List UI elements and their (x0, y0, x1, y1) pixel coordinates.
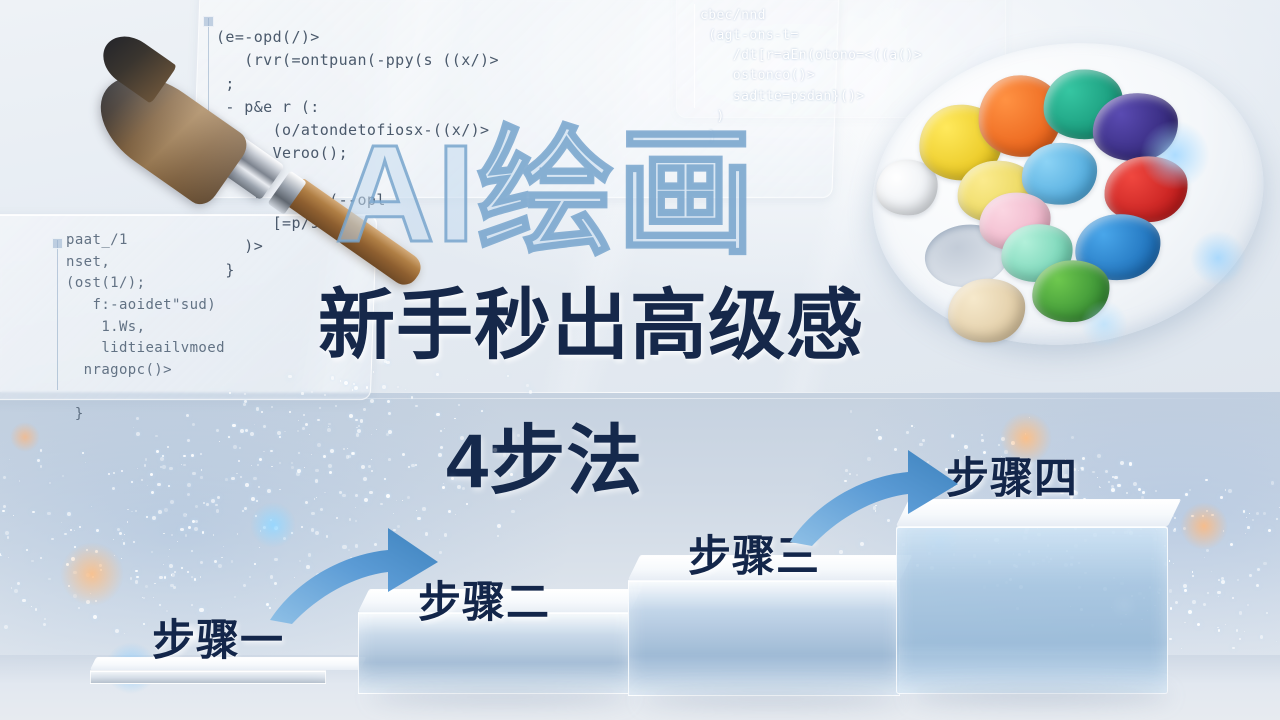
particle (1029, 417, 1030, 418)
particle (249, 576, 251, 578)
particle (914, 427, 915, 428)
particle (305, 423, 308, 426)
particle (1221, 580, 1225, 584)
particle (451, 477, 454, 480)
particle (1236, 629, 1239, 632)
particle (233, 445, 237, 449)
particle (1247, 604, 1249, 606)
particle (187, 493, 190, 496)
particle (191, 454, 194, 457)
particle (358, 425, 361, 428)
particle (1092, 471, 1095, 474)
particle (203, 502, 205, 504)
particle (1239, 638, 1241, 640)
particle (1189, 489, 1191, 491)
particle (2, 510, 5, 513)
particle (74, 530, 76, 532)
particle (40, 557, 42, 559)
particle (320, 508, 324, 512)
particle (115, 629, 119, 633)
particle (99, 564, 102, 567)
particle (242, 510, 244, 512)
particle (256, 500, 258, 502)
particle (202, 531, 205, 534)
particle (73, 594, 77, 598)
particle (113, 472, 115, 474)
particle (270, 450, 273, 453)
glow-bokeh (10, 422, 40, 452)
particle (152, 516, 156, 520)
particle (364, 498, 368, 502)
particle (366, 386, 369, 389)
particle (1276, 518, 1278, 520)
particle (1001, 437, 1005, 441)
particle (100, 569, 102, 571)
particle (112, 487, 115, 490)
particle (1271, 481, 1275, 485)
particle (4, 625, 8, 629)
particle (131, 481, 133, 483)
particle (231, 560, 233, 562)
poster-canvas: (e=-opd(/)> (rvr(=ontpuan(-ppy(s ((x/)> … (0, 0, 1280, 720)
particle (1133, 482, 1137, 486)
particle (229, 392, 231, 394)
particle (271, 466, 273, 468)
particle (1243, 510, 1246, 513)
particle (355, 419, 358, 422)
particle (160, 457, 164, 461)
particle (356, 427, 358, 429)
particle (133, 427, 134, 428)
particle (346, 455, 350, 459)
particle (330, 449, 334, 453)
particle (520, 499, 521, 500)
particle (460, 436, 464, 440)
particle (200, 476, 203, 479)
particle (155, 435, 158, 438)
particle (1205, 479, 1208, 482)
particle (133, 541, 135, 543)
particle (244, 507, 247, 510)
particle (231, 477, 235, 481)
particle (216, 429, 219, 432)
particle (443, 483, 444, 484)
particle (221, 557, 223, 559)
particle (86, 600, 90, 604)
particle (225, 478, 228, 481)
particle (119, 532, 122, 535)
particle (154, 583, 155, 584)
particle (258, 486, 260, 488)
particle (315, 469, 319, 473)
particle (386, 494, 390, 498)
particle (74, 546, 76, 548)
particle (442, 486, 445, 489)
particle (37, 459, 40, 462)
particle (183, 464, 186, 467)
particle (388, 458, 391, 461)
particle (1120, 461, 1124, 465)
particle (1249, 574, 1252, 577)
particle (349, 414, 353, 418)
particle (363, 477, 367, 481)
particle (436, 413, 439, 416)
particle (1223, 530, 1224, 531)
particle (1252, 519, 1255, 522)
podium-front (628, 580, 900, 696)
page-title: AI绘画 (335, 112, 875, 277)
particle (983, 451, 986, 454)
particle (1082, 457, 1086, 461)
particle (327, 428, 331, 432)
particle (217, 496, 220, 499)
particle (297, 469, 301, 473)
particle (124, 534, 126, 536)
particle (70, 529, 71, 530)
arrow-step1-to-step2 (262, 516, 452, 626)
particle (135, 580, 138, 583)
particle (1220, 496, 1223, 499)
particle (186, 514, 188, 516)
particle (159, 604, 162, 607)
particle (1230, 543, 1233, 546)
particle (1141, 496, 1144, 499)
particle (48, 578, 51, 581)
particle (8, 557, 9, 558)
particle (361, 465, 365, 469)
particle (1004, 450, 1008, 454)
particle (40, 449, 43, 452)
particle (454, 418, 456, 420)
particle (279, 489, 281, 491)
particle (216, 509, 220, 513)
particle (19, 480, 20, 481)
podium-front (90, 670, 326, 684)
particle (169, 549, 170, 550)
particle (122, 539, 123, 540)
particle (200, 453, 202, 455)
particle (159, 576, 162, 579)
particle (95, 600, 97, 602)
particle (1155, 490, 1157, 492)
particle (507, 375, 509, 377)
particle (298, 452, 300, 454)
page-subtitle: 新手秒出高级感 (318, 288, 864, 365)
particle (259, 458, 262, 461)
particle (402, 453, 405, 456)
particle (61, 522, 62, 523)
particle (5, 531, 9, 535)
particle (183, 455, 185, 457)
particle (415, 405, 417, 407)
particle (64, 533, 67, 536)
particle (302, 427, 305, 430)
particle (440, 430, 442, 432)
particle (304, 467, 305, 468)
particle (153, 597, 154, 598)
particle (166, 610, 168, 612)
particle (309, 434, 310, 435)
particle (146, 516, 147, 517)
particle (170, 500, 174, 504)
particle (1239, 611, 1243, 615)
particle (35, 608, 38, 611)
particle (150, 473, 154, 477)
particle (136, 417, 139, 420)
particle (91, 506, 92, 507)
particle (211, 499, 215, 503)
particle (1117, 484, 1121, 488)
particle (517, 434, 520, 437)
particle (191, 576, 193, 578)
particle (1138, 488, 1141, 491)
particle (503, 453, 507, 457)
particle (135, 510, 136, 511)
particle (11, 587, 13, 589)
particle (316, 497, 317, 498)
particle (14, 589, 18, 593)
particle (371, 470, 373, 472)
particle (191, 604, 193, 606)
particle (511, 510, 515, 514)
particle (239, 447, 241, 449)
particle (135, 570, 137, 572)
particle (497, 535, 499, 537)
particle (297, 430, 299, 432)
particle (267, 489, 271, 493)
particle (180, 528, 184, 532)
particle (1247, 526, 1250, 529)
particle (31, 560, 34, 563)
particle (66, 563, 70, 567)
particle (127, 521, 128, 522)
particle (136, 576, 138, 578)
particle (493, 448, 496, 451)
particle (243, 584, 246, 587)
code-gutter-right (694, 4, 695, 108)
particle (143, 623, 145, 625)
particle (79, 526, 81, 528)
particle (141, 479, 143, 481)
particle (49, 482, 52, 485)
particle (113, 539, 114, 540)
particle (237, 533, 238, 534)
particle (13, 515, 15, 517)
particle (108, 473, 111, 476)
particle (388, 430, 392, 434)
particle (1217, 627, 1219, 629)
particle (144, 464, 146, 466)
particle (240, 476, 242, 478)
particle (86, 549, 88, 551)
particle (1011, 441, 1015, 445)
particle (1244, 631, 1246, 633)
particle (244, 393, 246, 395)
particle (31, 606, 33, 608)
particle (171, 573, 175, 577)
particle (1185, 493, 1188, 496)
particle (173, 586, 176, 589)
particle (1256, 512, 1259, 515)
particle (245, 483, 249, 487)
particle (253, 477, 257, 481)
particle (1237, 579, 1239, 581)
particle (95, 550, 98, 553)
particle (402, 500, 403, 501)
particle (192, 423, 196, 427)
particle (206, 503, 209, 506)
particle (311, 454, 312, 455)
particle (181, 567, 183, 569)
particle (411, 396, 414, 399)
particle (213, 534, 215, 536)
particle (1245, 533, 1247, 535)
particle (388, 412, 391, 415)
particle (117, 528, 120, 531)
particle (277, 431, 281, 435)
particle (191, 550, 193, 552)
particle (151, 491, 154, 494)
particle (163, 533, 164, 534)
particle (331, 376, 334, 379)
particle (136, 432, 140, 436)
particle (127, 509, 129, 511)
particle (147, 485, 149, 487)
particle (289, 411, 291, 413)
particle (1225, 624, 1226, 625)
particle (261, 411, 263, 413)
particle (380, 503, 383, 506)
particle (376, 429, 377, 430)
particle (131, 511, 133, 513)
step-label-1: 步骤一 (152, 620, 284, 663)
particle (121, 558, 122, 559)
particle (137, 468, 138, 469)
particle (1260, 635, 1264, 639)
particle (130, 577, 133, 580)
glow-bokeh (60, 542, 124, 606)
particle (284, 431, 286, 433)
particle (981, 439, 984, 442)
particle (221, 607, 222, 608)
particle (328, 464, 332, 468)
particle (1268, 529, 1271, 532)
particle (9, 459, 10, 460)
particle (998, 444, 1000, 446)
particle (497, 524, 501, 528)
particle (228, 436, 230, 438)
particle (305, 501, 309, 505)
particle (1081, 469, 1084, 472)
particle (351, 452, 354, 455)
particle (254, 563, 256, 565)
particle (185, 534, 187, 536)
particle (7, 536, 9, 538)
particle (238, 460, 240, 462)
particle (416, 510, 417, 511)
particle (311, 391, 313, 393)
particle (145, 585, 149, 589)
particle (243, 403, 246, 406)
particle (164, 576, 167, 579)
particle (355, 507, 356, 508)
particle (186, 414, 189, 417)
particle (124, 633, 126, 635)
particle (291, 462, 293, 464)
particle (344, 381, 348, 385)
particle (3, 505, 6, 508)
particle (1217, 591, 1221, 595)
particle (259, 547, 260, 548)
particle (291, 466, 294, 469)
particle (263, 425, 266, 428)
particle (324, 394, 326, 396)
particle (174, 571, 176, 573)
particle (368, 465, 372, 469)
particle (201, 469, 203, 471)
particle (187, 439, 190, 442)
particle (26, 549, 28, 551)
particle (143, 597, 145, 599)
particle (1105, 470, 1108, 473)
particle (223, 546, 225, 548)
particle (1025, 433, 1027, 435)
particle (194, 578, 197, 581)
particle (219, 441, 221, 443)
particle (71, 557, 75, 561)
particle (1129, 462, 1132, 465)
particle (251, 465, 253, 467)
particle (171, 534, 173, 536)
particle (1232, 597, 1234, 599)
particle (1218, 596, 1220, 598)
particle (466, 503, 468, 505)
particle (234, 596, 236, 598)
particle (1225, 489, 1227, 491)
particle (167, 446, 169, 448)
particle (251, 497, 255, 501)
podium-shadow (640, 692, 902, 706)
particle (22, 599, 26, 603)
particle (438, 453, 442, 457)
particle (436, 373, 439, 376)
particle (342, 494, 346, 498)
particle (462, 487, 465, 490)
particle (1114, 476, 1117, 479)
particle (315, 479, 319, 483)
particle (67, 512, 71, 516)
particle (151, 551, 153, 553)
particle (187, 483, 191, 487)
particle (236, 473, 237, 474)
particle (195, 520, 198, 523)
particle (145, 458, 148, 461)
particle (195, 505, 198, 508)
particle (92, 576, 94, 578)
particle (355, 494, 358, 497)
particle (329, 471, 332, 474)
particle (1263, 562, 1266, 565)
particle (188, 526, 191, 529)
particle (457, 485, 461, 489)
particle (458, 404, 460, 406)
particle (164, 508, 168, 512)
particle (335, 405, 337, 407)
particle (387, 400, 390, 403)
particle (200, 576, 202, 578)
particle (386, 361, 390, 365)
particle (356, 433, 360, 437)
